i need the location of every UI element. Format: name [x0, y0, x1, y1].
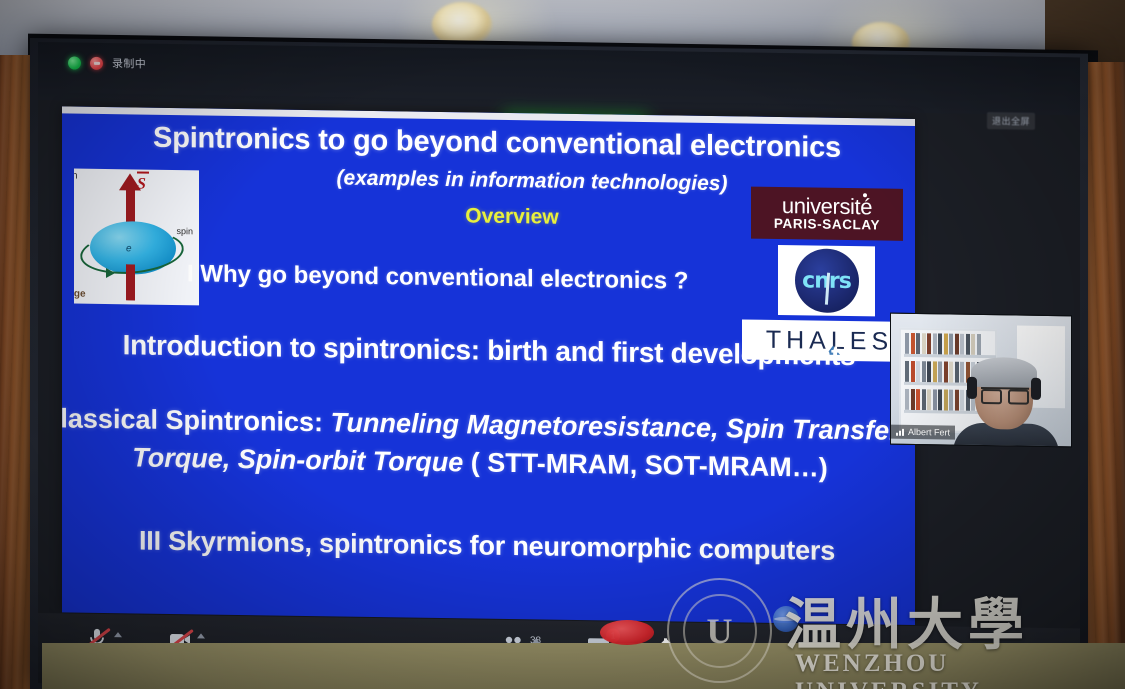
spin-arrow-shaft-lower	[126, 264, 135, 300]
participant-name-label: Albert Fert	[908, 427, 950, 438]
charge-label: rge	[74, 288, 86, 299]
participant-video-thumbnail[interactable]: Albert Fert	[890, 313, 1072, 448]
slide-bullet-3: lassical Spintronics: Tunneling Magnetor…	[62, 399, 915, 489]
spin-text-label: spin	[176, 226, 193, 236]
audio-options-chevron-icon[interactable]	[114, 632, 122, 637]
desk-surface	[42, 643, 1125, 689]
slide-title: Spintronics to go beyond conventional el…	[102, 121, 892, 166]
headphone-right-icon	[1031, 378, 1041, 400]
spin-vector-label: S	[137, 175, 146, 193]
exit-fullscreen-button[interactable]: 退出全屏	[987, 112, 1035, 130]
display-screen: 录制中 您正在观看Albert Fert的屏幕 查看选项 退出全屏 Spintr…	[38, 42, 1080, 689]
slide-bullet-3-head: lassical Spintronics:	[62, 403, 330, 437]
spin-diagram: n S e spin rge	[74, 169, 199, 306]
signal-strength-icon	[896, 428, 904, 436]
zoom-application: 录制中 您正在观看Albert Fert的屏幕 查看选项 退出全屏 Spintr…	[38, 42, 1080, 689]
glasses-icon	[981, 387, 1029, 400]
slide-bullet-3-italic-a: Tunneling Magnetoresistance, Spin Transf…	[330, 407, 899, 445]
shared-slide: Spintronics to go beyond conventional el…	[62, 106, 915, 625]
slide-bullet-4: III Skyrmions, spintronics for neuromorp…	[62, 524, 912, 568]
video-person-hair	[971, 357, 1037, 388]
universite-paris-saclay-logo: université PARIS-SACLAY	[751, 187, 903, 241]
universite-logo-line1: université	[782, 195, 872, 219]
slide-bullet-3-tail: ( STT-MRAM, SOT-MRAM…)	[463, 448, 827, 483]
slide-bullet-3-italic-b: Torque, Spin-orbit Torque	[132, 443, 463, 478]
recording-label: 录制中	[112, 55, 146, 72]
video-name-bar: Albert Fert	[891, 425, 955, 440]
recording-indicator-group: 录制中	[68, 54, 146, 71]
spin-orbit-arrow-icon	[106, 268, 115, 278]
slide-overview-heading: Overview	[292, 202, 732, 233]
screenshot-root: 录制中 您正在观看Albert Fert的屏幕 查看选项 退出全屏 Spintr…	[0, 0, 1125, 689]
spin-diagram-top-label: n	[74, 171, 78, 182]
connection-status-icon	[68, 56, 81, 69]
video-options-chevron-icon[interactable]	[197, 633, 205, 638]
stop-recording-icon[interactable]	[90, 56, 103, 69]
headphone-left-icon	[967, 377, 977, 399]
red-highlight-blob	[600, 620, 654, 645]
universite-logo-line2: PARIS-SACLAY	[774, 217, 880, 233]
